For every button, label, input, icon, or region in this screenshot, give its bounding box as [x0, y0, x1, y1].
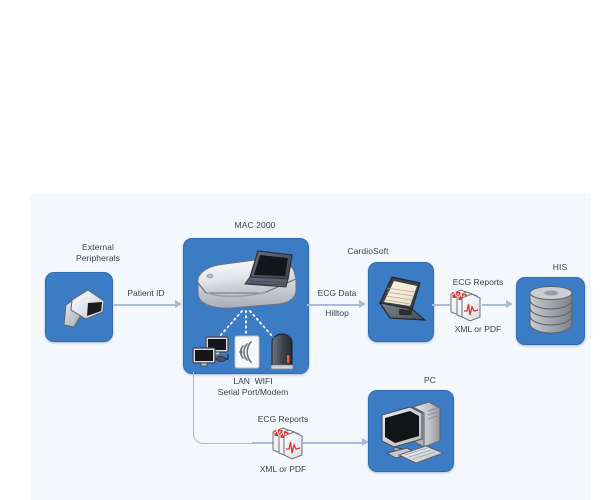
desktop-computer-icon [377, 397, 447, 465]
arrow-head-patient-id [175, 300, 182, 308]
edge-label-ecg-data-top: ECG Data [302, 288, 372, 299]
arrow-line-ecg-data [307, 304, 360, 306]
barcode-scanner-icon [52, 283, 108, 333]
modem-icon [268, 333, 296, 371]
node-external-peripherals[interactable] [45, 272, 113, 342]
edge-label-ecg-reports-pc-bottom: XML or PDF [238, 464, 328, 475]
node-label-external-peripherals: External Peripherals [58, 242, 138, 263]
node-his[interactable] [516, 277, 585, 345]
edge-label-patient-id: Patient ID [110, 288, 182, 299]
wifi-icon [234, 335, 260, 369]
node-cardiosoft[interactable] [368, 262, 434, 342]
edge-label-ecg-reports-his-bottom: XML or PDF [438, 324, 518, 335]
node-label-mac-2000: MAC 2000 [215, 220, 295, 231]
arrow-head-reports-to-his [506, 300, 513, 308]
ecg-report-documents-icon-pc [270, 424, 304, 460]
edge-label-ecg-data-bottom: Hilltop [302, 308, 372, 319]
database-stack-icon [527, 284, 575, 338]
arrow-line-reports-to-pc [302, 442, 363, 444]
ecg-report-documents-icon-his [448, 286, 482, 322]
arrow-head-ecg-data [359, 300, 366, 308]
annotation-mac-2000-interfaces: LAN WIFI Serial Port/Modem [193, 376, 313, 398]
node-label-cardiosoft: CardioSoft [328, 246, 408, 257]
lan-monitors-icon [192, 335, 234, 371]
arrow-line-reports-to-his [482, 304, 507, 306]
laptop-icon [373, 273, 431, 331]
arrow-line-patient-id [114, 304, 176, 306]
node-mac-2000[interactable] [183, 238, 309, 374]
diagram-canvas: External Peripherals [30, 194, 591, 500]
node-label-his: HIS [539, 262, 581, 273]
node-label-pc: PC [409, 375, 451, 386]
node-pc[interactable] [368, 390, 454, 472]
